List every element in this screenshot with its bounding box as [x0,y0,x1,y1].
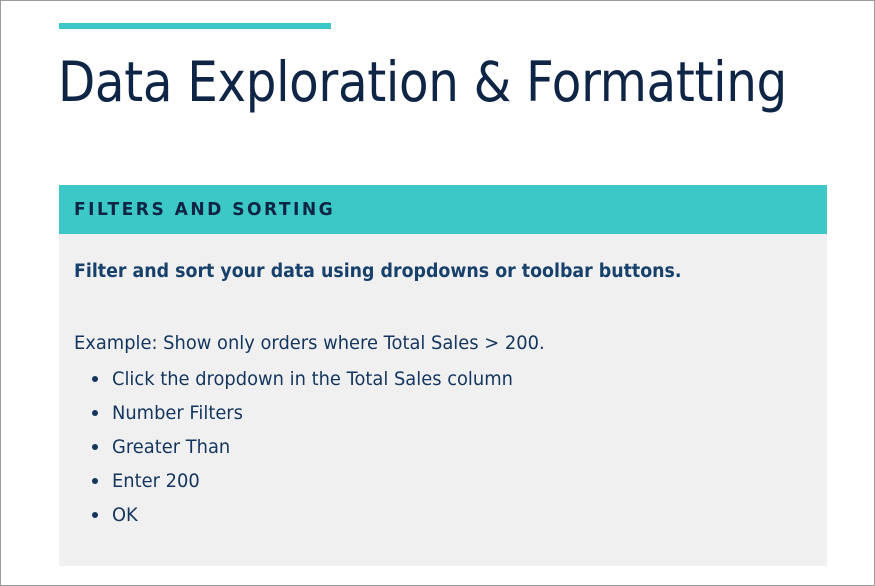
card-lead-text: Filter and sort your data using dropdown… [74,260,768,284]
card-header: FILTERS AND SORTING [59,185,827,234]
step-list-item: Click the dropdown in the Total Sales co… [74,362,812,396]
card-example-text: Example: Show only orders where Total Sa… [74,332,768,356]
step-label: OK [112,498,138,532]
bullet-icon [92,444,98,450]
filters-and-sorting-card: FILTERS AND SORTING Filter and sort your… [59,185,827,566]
step-list-item: Greater Than [74,430,812,464]
bullet-icon [92,478,98,484]
step-label: Click the dropdown in the Total Sales co… [112,362,513,396]
step-list-item: OK [74,498,812,532]
title-accent-bar [59,23,331,29]
steps-list: Click the dropdown in the Total Sales co… [74,362,812,532]
card-body: Filter and sort your data using dropdown… [59,234,827,532]
card-header-title: FILTERS AND SORTING [74,199,335,220]
bullet-icon [92,410,98,416]
bullet-icon [92,376,98,382]
page-title: Data Exploration & Formatting [58,51,753,114]
step-label: Greater Than [112,430,230,464]
bullet-icon [92,512,98,518]
step-label: Enter 200 [112,464,200,498]
slide-canvas: Data Exploration & Formatting FILTERS AN… [0,0,875,586]
step-label: Number Filters [112,396,243,430]
step-list-item: Enter 200 [74,464,812,498]
step-list-item: Number Filters [74,396,812,430]
